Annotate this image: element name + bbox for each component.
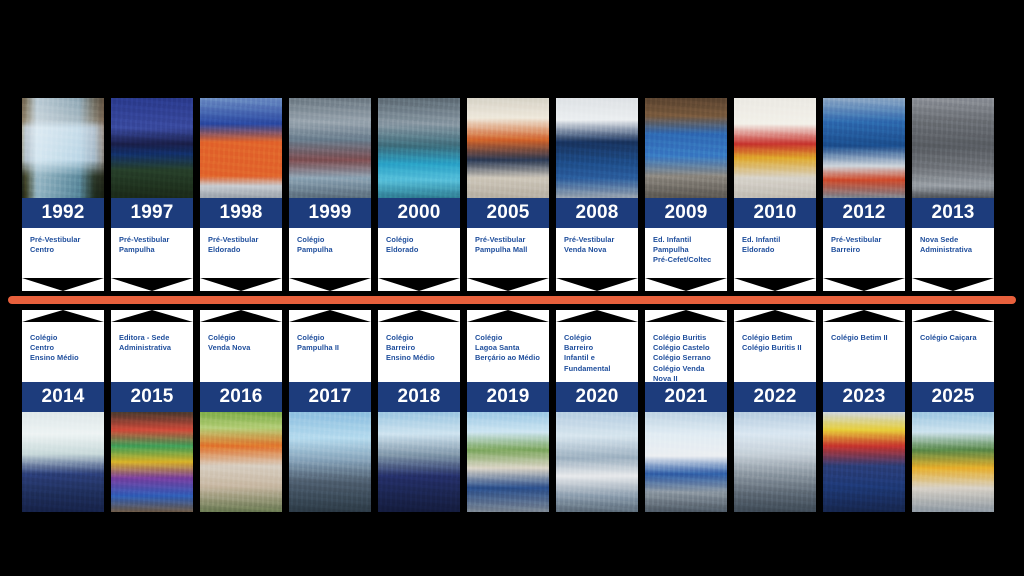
card-pointer-down-icon	[378, 278, 460, 291]
card-caption-line: Colégio	[475, 333, 543, 343]
card-pointer-down-icon	[111, 278, 193, 291]
timeline-card[interactable]: 1998Pré-VestibularEldorado	[200, 98, 282, 291]
card-pointer-down-icon	[467, 278, 549, 291]
card-caption-line: Centro	[30, 245, 98, 255]
card-photo	[200, 98, 282, 198]
timeline-card[interactable]: 2012Pré-VestibularBarreiro	[823, 98, 905, 291]
card-photo	[289, 412, 371, 512]
card-photo	[912, 98, 994, 198]
card-caption-line: Pampulha	[653, 245, 721, 255]
card-caption-line: Colégio	[208, 333, 276, 343]
card-year-band: 2017	[289, 382, 371, 412]
card-caption: Colégio Betim II	[823, 322, 905, 382]
card-caption: Editora - SedeAdministrativa	[111, 322, 193, 382]
card-photo-image	[556, 98, 638, 198]
card-year-band: 2010	[734, 198, 816, 228]
timeline-axis-bar	[8, 296, 1016, 304]
card-caption-line: Colégio Venda	[653, 364, 721, 374]
card-caption-line: Ed. Infantil	[742, 235, 810, 245]
card-caption: Pré-VestibularBarreiro	[823, 228, 905, 278]
card-year-band: 2019	[467, 382, 549, 412]
card-caption-line: Colégio	[386, 333, 454, 343]
card-pointer-up-icon	[467, 310, 549, 322]
card-pointer-up-icon	[289, 310, 371, 322]
card-caption-line: Pampulha	[297, 245, 365, 255]
card-photo-image	[912, 98, 994, 198]
card-pointer-up-icon	[111, 310, 193, 322]
timeline-card[interactable]: ColégioPampulha II2017	[289, 310, 371, 512]
card-photo	[22, 98, 104, 198]
card-caption: Pré-VestibularCentro	[22, 228, 104, 278]
card-pointer-up-icon	[200, 310, 282, 322]
card-photo	[823, 412, 905, 512]
timeline-card[interactable]: ColégioLagoa SantaBerçário ao Médio2019	[467, 310, 549, 512]
card-year-band: 2012	[823, 198, 905, 228]
card-pointer-down-icon	[645, 278, 727, 291]
timeline-card[interactable]: ColégioCentroEnsino Médio2014	[22, 310, 104, 512]
card-photo	[467, 98, 549, 198]
card-caption: Ed. InfantilPampulhaPré-Cefet/Coltec	[645, 228, 727, 278]
card-caption-line: Colégio	[564, 333, 632, 343]
card-photo-image	[645, 412, 727, 512]
card-year-band: 2014	[22, 382, 104, 412]
card-photo-image	[22, 98, 104, 198]
card-photo-image	[823, 98, 905, 198]
card-photo	[556, 412, 638, 512]
card-caption: Pré-VestibularEldorado	[200, 228, 282, 278]
card-photo	[378, 412, 460, 512]
card-caption-line: Ed. Infantil	[653, 235, 721, 245]
card-pointer-up-icon	[912, 310, 994, 322]
card-pointer-up-icon	[823, 310, 905, 322]
card-photo	[823, 98, 905, 198]
card-year-band: 2016	[200, 382, 282, 412]
card-photo-image	[823, 412, 905, 512]
card-caption: Pré-VestibularPampulha	[111, 228, 193, 278]
timeline-card[interactable]: Colégio Caiçara2025	[912, 310, 994, 512]
card-caption-line: Colégio	[297, 333, 365, 343]
card-caption-line: Colégio	[30, 333, 98, 343]
card-caption-line: Fundamental	[564, 364, 632, 374]
card-caption-line: Pampulha II	[297, 343, 365, 353]
card-caption-line: Ensino Médio	[386, 353, 454, 363]
card-pointer-up-icon	[22, 310, 104, 322]
card-caption-line: Administrativa	[119, 343, 187, 353]
card-caption: Ed. InfantilEldorado	[734, 228, 816, 278]
card-photo	[556, 98, 638, 198]
card-photo-image	[467, 98, 549, 198]
card-year-band: 1999	[289, 198, 371, 228]
card-photo	[734, 98, 816, 198]
timeline-card[interactable]: 1992Pré-VestibularCentro	[22, 98, 104, 291]
timeline-card[interactable]: Colégio Betim II2023	[823, 310, 905, 512]
card-caption-line: Pré-Cefet/Coltec	[653, 255, 721, 265]
timeline-card[interactable]: ColégioBarreiroInfantil eFundamental2020	[556, 310, 638, 512]
card-photo-image	[378, 412, 460, 512]
card-pointer-up-icon	[378, 310, 460, 322]
card-caption-line: Barreiro	[386, 343, 454, 353]
card-photo-image	[645, 98, 727, 198]
timeline-card[interactable]: Colégio BuritisColégio CasteloColégio Se…	[645, 310, 727, 512]
card-caption-line: Colégio Buritis II	[742, 343, 810, 353]
card-caption-line: Barreiro	[831, 245, 899, 255]
card-photo-image	[22, 412, 104, 512]
card-caption-line: Berçário ao Médio	[475, 353, 543, 363]
card-caption: Pré-VestibularPampulha Mall	[467, 228, 549, 278]
card-caption: Colégio BetimColégio Buritis II	[734, 322, 816, 382]
timeline-card[interactable]: 2013Nova SedeAdministrativa	[912, 98, 994, 291]
card-caption-line: Pré-Vestibular	[208, 235, 276, 245]
card-photo	[912, 412, 994, 512]
card-caption-line: Nova Sede	[920, 235, 988, 245]
card-caption-line: Venda Nova	[208, 343, 276, 353]
timeline-card[interactable]: 2008Pré-VestibularVenda Nova	[556, 98, 638, 291]
card-pointer-up-icon	[645, 310, 727, 322]
card-photo-image	[734, 412, 816, 512]
card-caption: ColégioBarreiroInfantil eFundamental	[556, 322, 638, 382]
card-pointer-down-icon	[823, 278, 905, 291]
card-year-band: 2018	[378, 382, 460, 412]
card-photo	[734, 412, 816, 512]
card-photo-image	[111, 412, 193, 512]
card-caption: Nova SedeAdministrativa	[912, 228, 994, 278]
card-photo	[200, 412, 282, 512]
timeline-card[interactable]: 1999ColégioPampulha	[289, 98, 371, 291]
card-caption-line: Editora - Sede	[119, 333, 187, 343]
card-caption-line: Pré-Vestibular	[475, 235, 543, 245]
card-year-band: 2000	[378, 198, 460, 228]
card-caption-line: Administrativa	[920, 245, 988, 255]
card-caption-line: Pampulha Mall	[475, 245, 543, 255]
card-photo	[22, 412, 104, 512]
card-caption-line: Ensino Médio	[30, 353, 98, 363]
card-year-band: 1998	[200, 198, 282, 228]
card-year-band: 2022	[734, 382, 816, 412]
card-caption-line: Colégio Betim	[742, 333, 810, 343]
timeline-card[interactable]: 2009Ed. InfantilPampulhaPré-Cefet/Coltec	[645, 98, 727, 291]
card-caption: ColégioVenda Nova	[200, 322, 282, 382]
card-year-band: 2008	[556, 198, 638, 228]
card-caption: ColégioLagoa SantaBerçário ao Médio	[467, 322, 549, 382]
card-caption: Pré-VestibularVenda Nova	[556, 228, 638, 278]
card-pointer-down-icon	[556, 278, 638, 291]
card-photo-image	[556, 412, 638, 512]
card-pointer-up-icon	[556, 310, 638, 322]
card-year-band: 2009	[645, 198, 727, 228]
card-pointer-down-icon	[289, 278, 371, 291]
card-year-band: 2021	[645, 382, 727, 412]
card-photo-image	[289, 412, 371, 512]
card-year-band: 2023	[823, 382, 905, 412]
card-pointer-down-icon	[734, 278, 816, 291]
card-photo-image	[111, 98, 193, 198]
card-caption: ColégioPampulha II	[289, 322, 371, 382]
card-photo	[378, 98, 460, 198]
card-caption-line: Lagoa Santa	[475, 343, 543, 353]
timeline-infographic: 1992Pré-VestibularCentro1997Pré-Vestibul…	[0, 0, 1024, 576]
card-caption-line: Pré-Vestibular	[564, 235, 632, 245]
card-year-band: 2013	[912, 198, 994, 228]
timeline-row-top: 1992Pré-VestibularCentro1997Pré-Vestibul…	[0, 98, 1024, 291]
card-photo-image	[734, 98, 816, 198]
card-photo	[467, 412, 549, 512]
card-photo	[111, 412, 193, 512]
card-photo-image	[200, 98, 282, 198]
card-year-band: 2020	[556, 382, 638, 412]
card-year-band: 2005	[467, 198, 549, 228]
card-caption-line: Colégio Buritis	[653, 333, 721, 343]
card-caption: Colégio BuritisColégio CasteloColégio Se…	[645, 322, 727, 382]
card-caption-line: Eldorado	[742, 245, 810, 255]
card-photo	[645, 412, 727, 512]
timeline-card[interactable]: ColégioBarreiroEnsino Médio2018	[378, 310, 460, 512]
card-photo-image	[200, 412, 282, 512]
card-caption: ColégioCentroEnsino Médio	[22, 322, 104, 382]
card-caption-line: Colégio Castelo	[653, 343, 721, 353]
card-caption-line: Colégio	[297, 235, 365, 245]
card-caption-line: Eldorado	[208, 245, 276, 255]
card-caption-line: Venda Nova	[564, 245, 632, 255]
timeline-card[interactable]: Editora - SedeAdministrativa2015	[111, 310, 193, 512]
card-caption-line: Pré-Vestibular	[30, 235, 98, 245]
card-caption-line: Barreiro	[564, 343, 632, 353]
card-photo-image	[289, 98, 371, 198]
card-photo-image	[467, 412, 549, 512]
timeline-card[interactable]: 1997Pré-VestibularPampulha	[111, 98, 193, 291]
timeline-card[interactable]: Colégio BetimColégio Buritis II2022	[734, 310, 816, 512]
card-pointer-down-icon	[912, 278, 994, 291]
card-caption-line: Pré-Vestibular	[119, 235, 187, 245]
card-year-band: 2025	[912, 382, 994, 412]
card-caption-line: Eldorado	[386, 245, 454, 255]
card-caption-line: Pré-Vestibular	[831, 235, 899, 245]
card-caption-line: Pampulha	[119, 245, 187, 255]
timeline-card[interactable]: 2010Ed. InfantilEldorado	[734, 98, 816, 291]
card-pointer-down-icon	[200, 278, 282, 291]
card-year-band: 1992	[22, 198, 104, 228]
card-caption: ColégioBarreiroEnsino Médio	[378, 322, 460, 382]
card-caption-line: Colégio Caiçara	[920, 333, 988, 343]
card-caption-line: Infantil e	[564, 353, 632, 363]
card-photo-image	[912, 412, 994, 512]
card-photo	[289, 98, 371, 198]
card-photo	[111, 98, 193, 198]
card-caption: ColégioEldorado	[378, 228, 460, 278]
card-year-band: 2015	[111, 382, 193, 412]
card-year-band: 1997	[111, 198, 193, 228]
card-caption-line: Colégio Betim II	[831, 333, 899, 343]
card-caption-line: Colégio	[386, 235, 454, 245]
timeline-card[interactable]: 2000ColégioEldorado	[378, 98, 460, 291]
timeline-card[interactable]: ColégioVenda Nova2016	[200, 310, 282, 512]
card-caption: ColégioPampulha	[289, 228, 371, 278]
timeline-card[interactable]: 2005Pré-VestibularPampulha Mall	[467, 98, 549, 291]
card-caption: Colégio Caiçara	[912, 322, 994, 382]
card-photo	[645, 98, 727, 198]
card-pointer-up-icon	[734, 310, 816, 322]
card-pointer-down-icon	[22, 278, 104, 291]
card-caption-line: Centro	[30, 343, 98, 353]
card-caption-line: Colégio Serrano	[653, 353, 721, 363]
card-photo-image	[378, 98, 460, 198]
timeline-row-bottom: ColégioCentroEnsino Médio2014Editora - S…	[0, 310, 1024, 512]
